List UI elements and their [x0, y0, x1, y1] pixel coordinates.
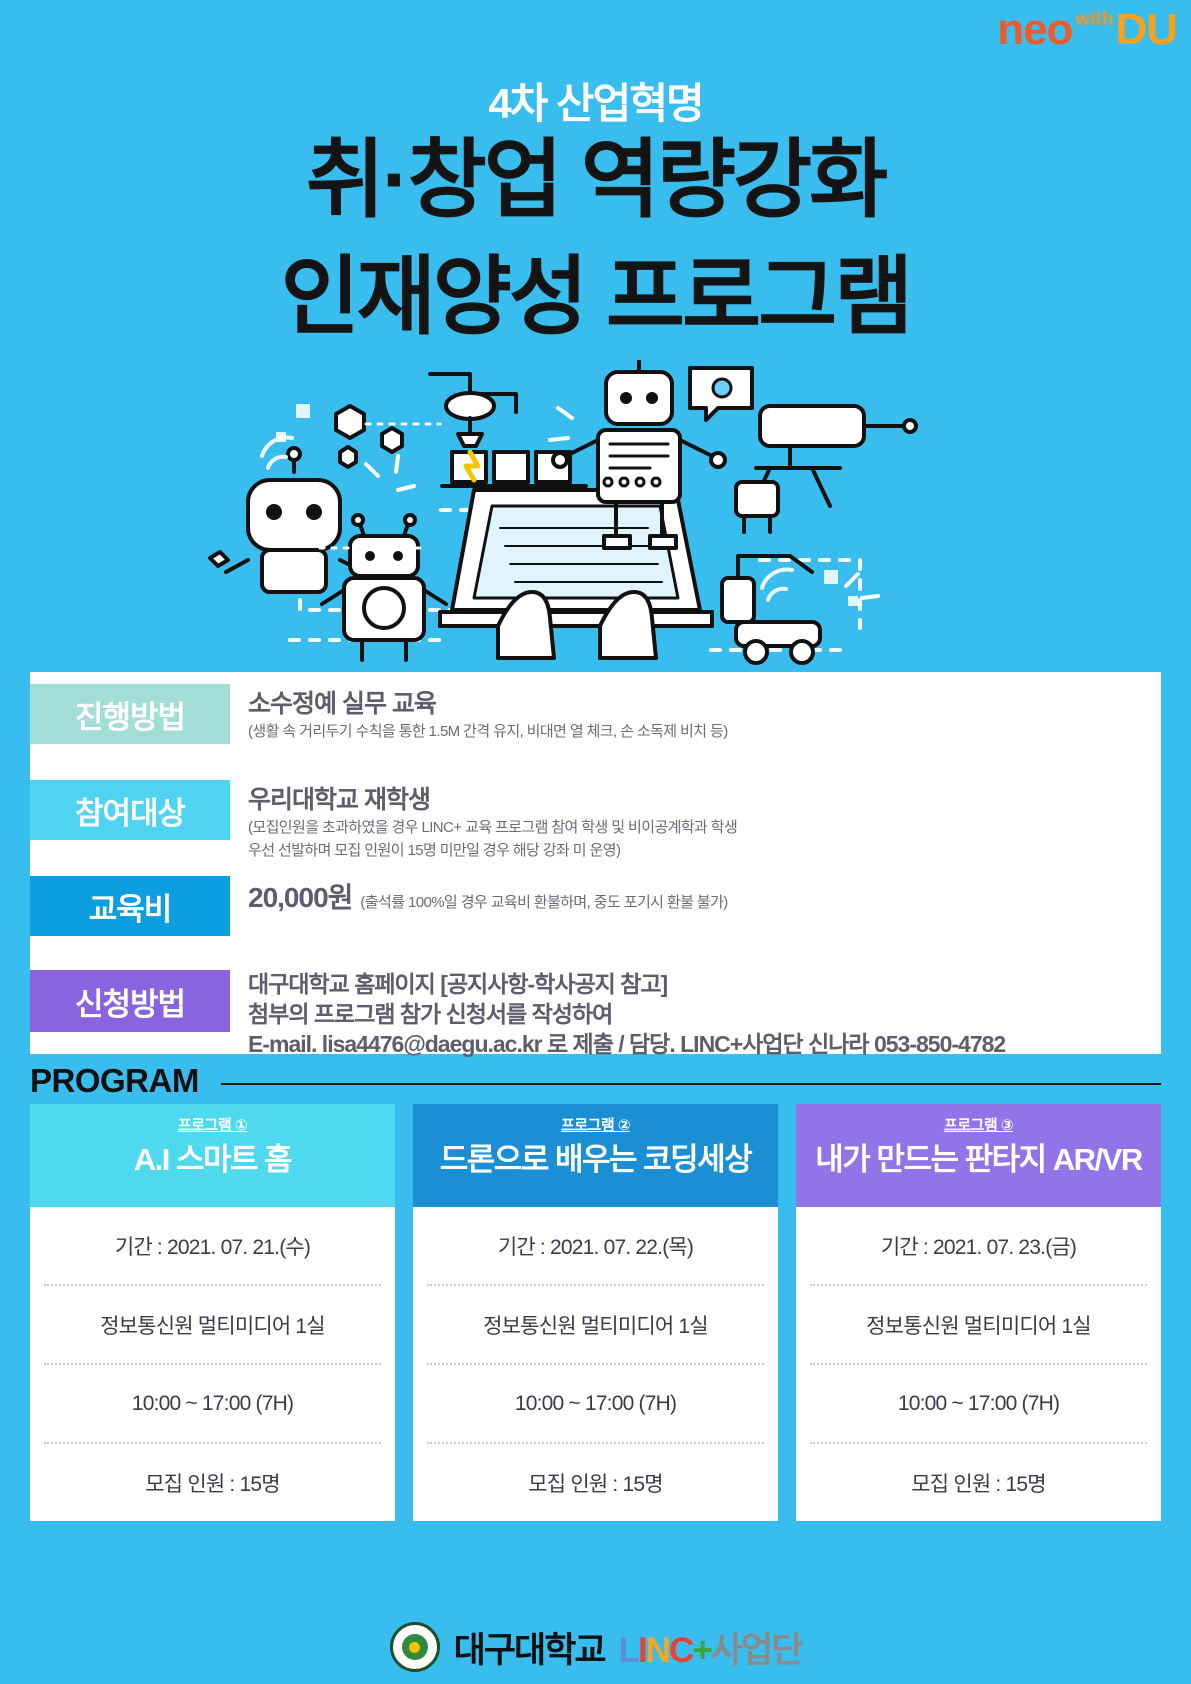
program-card-date: 기간 : 2021. 07. 22.(목) [427, 1207, 764, 1286]
program-card: 프로그램 ③ 내가 만드는 판타지 AR/VR 기간 : 2021. 07. 2… [796, 1104, 1161, 1521]
program-card-list: 프로그램 ① A.I 스마트 홈 기간 : 2021. 07. 21.(수) 정… [30, 1104, 1161, 1521]
program-card-header: 프로그램 ③ 내가 만드는 판타지 AR/VR [796, 1104, 1161, 1207]
program-card-place: 정보통신원 멀티미디어 1실 [44, 1286, 381, 1365]
fee-amount: 20,000원 [248, 876, 352, 916]
program-card-title: 드론으로 배우는 코딩세상 [413, 1141, 778, 1180]
linc-letter-c: C [669, 1631, 692, 1670]
program-card-quota: 모집 인원 : 15명 [44, 1444, 381, 1521]
emblem-inner-shape [402, 1634, 428, 1660]
program-card: 프로그램 ① A.I 스마트 홈 기간 : 2021. 07. 21.(수) 정… [30, 1104, 395, 1521]
program-card-title: A.I 스마트 홈 [30, 1141, 395, 1180]
target-note-2: 우선 선발하며 모집 인원이 15명 미만일 경우 해당 강좌 미 운영) [248, 839, 737, 862]
program-card-body: 기간 : 2021. 07. 22.(목) 정보통신원 멀티미디어 1실 10:… [413, 1207, 778, 1521]
info-row-apply: 신청방법 대구대학교 홈페이지 [공지사항-학사공지 참고] 첨부의 프로그램 … [30, 970, 1005, 1060]
target-note-1: (모집인원을 초과하였을 경우 LINC+ 교육 프로그램 참여 학생 및 비이… [248, 816, 737, 839]
info-row-fee: 교육비 20,000원 (출석률 100%일 경우 교육비 환불하며, 중도 포… [30, 876, 728, 936]
title-kicker: 4차 산업혁명 [0, 70, 1191, 131]
program-card-quota: 모집 인원 : 15명 [810, 1444, 1147, 1521]
program-card-date: 기간 : 2021. 07. 21.(수) [44, 1207, 381, 1286]
info-content-target: 우리대학교 재학생 (모집인원을 초과하였을 경우 LINC+ 교육 프로그램 … [248, 780, 737, 863]
program-card-kicker: 프로그램 ① [30, 1114, 395, 1135]
neo-with-du-logo: neo with DU [997, 8, 1177, 52]
poster-root: neo with DU 4차 산업혁명 취·창업 역량강화 인재양성 프로그램 [0, 0, 1191, 1684]
program-card-time: 10:00 ~ 17:00 (7H) [427, 1365, 764, 1444]
footer-linc-logo: LINC+사업단 [619, 1622, 802, 1673]
linc-letter-i: I [638, 1631, 646, 1670]
linc-letter-plus: + [692, 1631, 710, 1670]
target-heading: 우리대학교 재학생 [248, 780, 737, 816]
linc-suffix-text: 사업단 [711, 1631, 802, 1670]
program-card-header: 프로그램 ① A.I 스마트 홈 [30, 1104, 395, 1207]
program-card-time: 10:00 ~ 17:00 (7H) [44, 1365, 381, 1444]
program-card-body: 기간 : 2021. 07. 21.(수) 정보통신원 멀티미디어 1실 10:… [30, 1207, 395, 1521]
program-card-kicker: 프로그램 ③ [796, 1114, 1161, 1135]
info-row-method: 진행방법 소수정예 실무 교육 (생활 속 거리두기 수칙을 통한 1.5M 간… [30, 684, 728, 744]
fee-note: (출석률 100%일 경우 교육비 환불하며, 중도 포기시 환불 불가) [360, 891, 727, 912]
method-note: (생활 속 거리두기 수칙을 통한 1.5M 간격 유지, 비대면 열 체크, … [248, 720, 728, 743]
method-heading: 소수정예 실무 교육 [248, 684, 728, 720]
logo-with-text: with [1075, 10, 1113, 29]
apply-line-2: 첨부의 프로그램 참가 신청서를 작성하여 [248, 1000, 1005, 1030]
program-card-quota: 모집 인원 : 15명 [427, 1444, 764, 1521]
info-content-method: 소수정예 실무 교육 (생활 속 거리두기 수칙을 통한 1.5M 간격 유지,… [248, 684, 728, 744]
program-card: 프로그램 ② 드론으로 배우는 코딩세상 기간 : 2021. 07. 22.(… [413, 1104, 778, 1521]
program-card-date: 기간 : 2021. 07. 23.(금) [810, 1207, 1147, 1286]
logo-du-text: DU [1115, 8, 1177, 52]
program-heading-label: PROGRAM [30, 1062, 199, 1100]
info-content-apply: 대구대학교 홈페이지 [공지사항-학사공지 참고] 첨부의 프로그램 참가 신청… [248, 970, 1005, 1060]
apply-line-1: 대구대학교 홈페이지 [공지사항-학사공지 참고] [248, 970, 1005, 1000]
info-label-method: 진행방법 [30, 684, 230, 744]
info-label-fee: 교육비 [30, 876, 230, 936]
info-row-target: 참여대상 우리대학교 재학생 (모집인원을 초과하였을 경우 LINC+ 교육 … [30, 780, 737, 863]
program-card-time: 10:00 ~ 17:00 (7H) [810, 1365, 1147, 1444]
industry-illustration [0, 360, 1191, 670]
apply-line-3: E-mail. lisa4476@daegu.ac.kr 로 제출 / 담당. … [248, 1030, 1005, 1060]
daegu-university-emblem-icon [390, 1622, 440, 1672]
program-card-kicker: 프로그램 ② [413, 1114, 778, 1135]
program-heading-rule [221, 1083, 1161, 1085]
program-card-title: 내가 만드는 판타지 AR/VR [796, 1141, 1161, 1180]
program-card-body: 기간 : 2021. 07. 23.(금) 정보통신원 멀티미디어 1실 10:… [796, 1207, 1161, 1521]
info-label-apply: 신청방법 [30, 970, 230, 1032]
info-content-fee: 20,000원 (출석률 100%일 경우 교육비 환불하며, 중도 포기시 환… [248, 876, 728, 936]
program-card-header: 프로그램 ② 드론으로 배우는 코딩세상 [413, 1104, 778, 1207]
footer-logos: 대구대학교 LINC+사업단 [0, 1610, 1191, 1684]
title-line-1: 취·창업 역량강화 [0, 135, 1191, 225]
program-heading: PROGRAM [30, 1062, 1161, 1100]
footer-university-name: 대구대학교 [454, 1622, 605, 1673]
program-card-place: 정보통신원 멀티미디어 1실 [810, 1286, 1147, 1365]
linc-letter-n: N [646, 1631, 669, 1670]
title-line-2: 인재양성 프로그램 [0, 252, 1191, 342]
logo-neo-text: neo [997, 8, 1072, 52]
program-card-place: 정보통신원 멀티미디어 1실 [427, 1286, 764, 1365]
emblem-dot-shape [409, 1642, 420, 1653]
linc-letter-l: L [619, 1631, 638, 1670]
info-label-target: 참여대상 [30, 780, 230, 840]
info-panel: 진행방법 소수정예 실무 교육 (생활 속 거리두기 수칙을 통한 1.5M 간… [30, 672, 1161, 1054]
